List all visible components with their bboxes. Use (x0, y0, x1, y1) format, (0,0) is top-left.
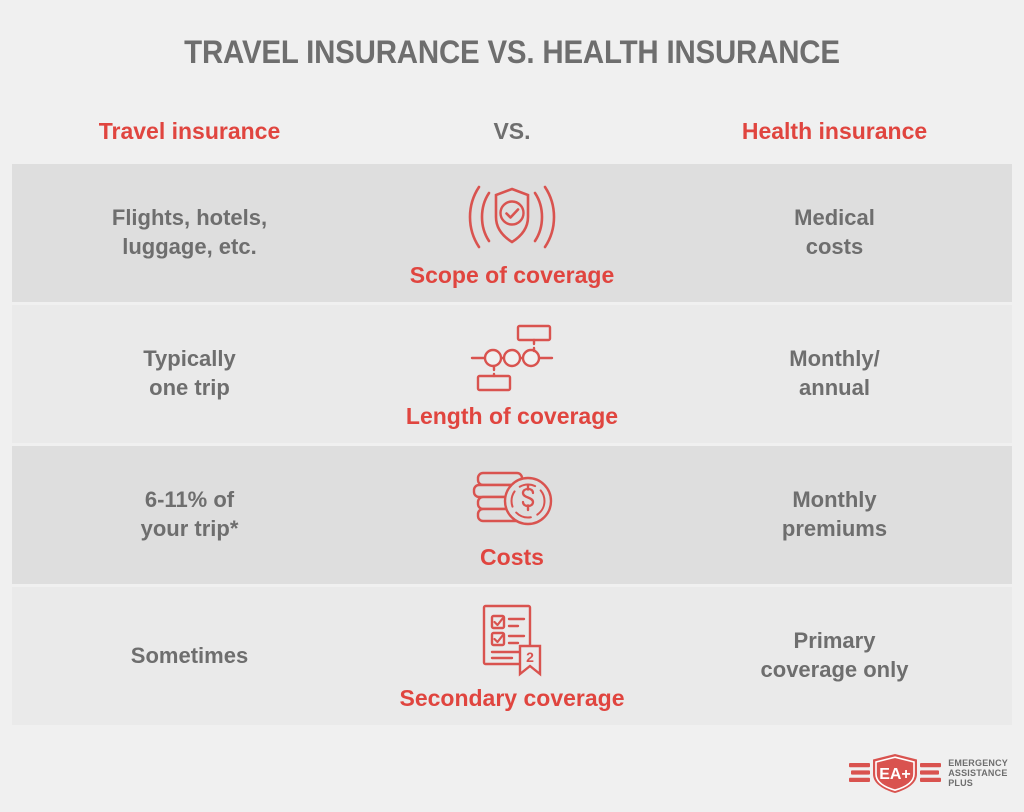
row-center: Scope of coverage (367, 178, 657, 289)
logo-line-3: PLUS (948, 778, 1008, 788)
row-left-value: Typically one trip (12, 345, 367, 402)
header-vs: VS. (367, 118, 657, 145)
row-right-value: Medical costs (657, 204, 1012, 261)
row-right-line1: Monthly (657, 486, 1012, 515)
logo-mark-text: EA+ (879, 766, 911, 783)
table-row: Flights, hotels, luggage, etc. Scope of (12, 164, 1012, 302)
ea-plus-shield-icon: EA+ (849, 752, 941, 794)
row-center: 2 Secondary coverage (367, 601, 657, 712)
page-title: TRAVEL INSURANCE VS. HEALTH INSURANCE (41, 34, 983, 71)
header-travel-insurance: Travel insurance (12, 118, 367, 145)
row-center-label: Scope of coverage (410, 262, 615, 289)
comparison-rows: Flights, hotels, luggage, etc. Scope of (12, 164, 1012, 728)
row-right-line1: Primary (657, 627, 1012, 656)
shield-check-signal-icon (460, 178, 564, 256)
row-center-label: Length of coverage (406, 403, 618, 430)
row-right-line1: Monthly/ (657, 345, 1012, 374)
row-left-line1: Typically (12, 345, 367, 374)
row-center-label: Costs (480, 544, 544, 571)
row-right-value: Primary coverage only (657, 627, 1012, 684)
row-left-line2: luggage, etc. (12, 233, 367, 262)
row-left-value: Sometimes (12, 642, 367, 671)
row-right-value: Monthly/ annual (657, 345, 1012, 402)
svg-text:2: 2 (526, 649, 534, 665)
coins-dollar-icon (466, 460, 558, 538)
table-row: 6-11% of your trip* (12, 446, 1012, 584)
row-center: Costs (367, 460, 657, 571)
row-right-line1: Medical (657, 204, 1012, 233)
row-center-label: Secondary coverage (399, 685, 624, 712)
column-headers: Travel insurance VS. Health insurance (12, 118, 1012, 145)
checklist-badge-icon: 2 (472, 601, 552, 679)
row-right-line2: coverage only (657, 656, 1012, 685)
row-left-line2: one trip (12, 374, 367, 403)
table-row: Sometimes (12, 587, 1012, 725)
row-right-value: Monthly premiums (657, 486, 1012, 543)
logo-line-2: ASSISTANCE (948, 768, 1008, 778)
row-left-line1: Flights, hotels, (12, 204, 367, 233)
table-row: Typically one trip Length (12, 305, 1012, 443)
row-left-line1: 6-11% of (12, 486, 367, 515)
infographic-root: TRAVEL INSURANCE VS. HEALTH INSURANCE Tr… (0, 0, 1024, 812)
row-center: Length of coverage (367, 319, 657, 430)
row-right-line2: costs (657, 233, 1012, 262)
row-left-line1: Sometimes (12, 642, 367, 671)
logo-wordmark: EMERGENCY ASSISTANCE PLUS (948, 758, 1008, 788)
row-left-value: Flights, hotels, luggage, etc. (12, 204, 367, 261)
row-right-line2: annual (657, 374, 1012, 403)
timeline-icon (466, 319, 558, 397)
row-right-line2: premiums (657, 515, 1012, 544)
row-left-line2: your trip* (12, 515, 367, 544)
row-left-value: 6-11% of your trip* (12, 486, 367, 543)
header-health-insurance: Health insurance (657, 118, 1012, 145)
logo-line-1: EMERGENCY (948, 758, 1008, 768)
brand-logo: EA+ EMERGENCY ASSISTANCE PLUS (849, 752, 1008, 794)
